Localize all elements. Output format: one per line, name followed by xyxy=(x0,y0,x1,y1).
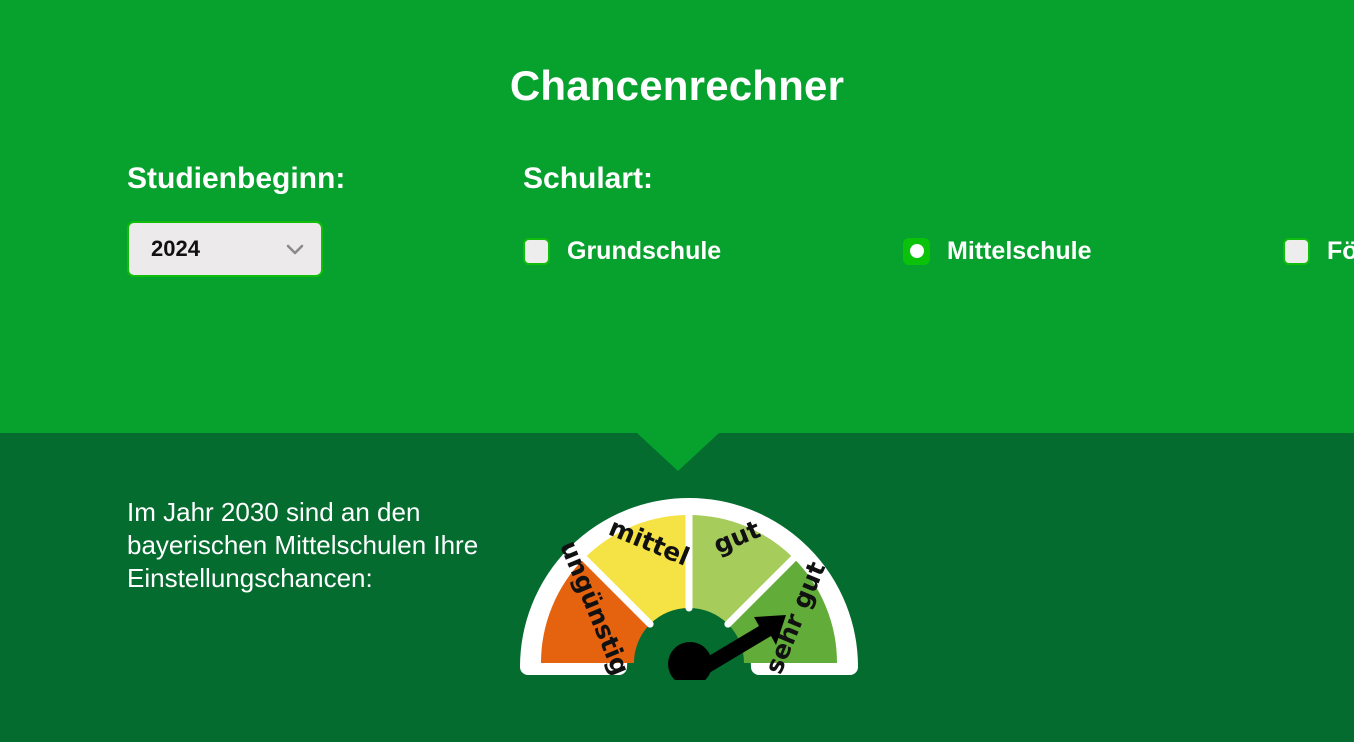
schulart-options-grid: Grundschule Mittelschule Förderschule Re… xyxy=(523,223,1283,279)
checkbox-mittelschule[interactable] xyxy=(903,238,930,265)
studienbeginn-label: Studienbeginn: xyxy=(127,162,345,196)
school-option-label: Mittelschule xyxy=(947,237,1091,266)
result-text: Im Jahr 2030 sind an den bayerischen Mit… xyxy=(127,496,497,595)
gauge-chart: ungünstig mittel gut sehr gut xyxy=(516,484,864,680)
panel-notch-triangle xyxy=(637,433,719,471)
top-panel: Chancenrechner Studienbeginn: 2024 Schul… xyxy=(0,0,1354,433)
checkbox-foerderschule[interactable] xyxy=(1283,238,1310,265)
year-select-wrapper: 2024 xyxy=(127,221,323,277)
year-select-value: 2024 xyxy=(151,236,283,262)
schulart-label: Schulart: xyxy=(523,162,1283,196)
schulart-group: Schulart: Grundschule Mittelschule Förde… xyxy=(523,162,1283,279)
year-select[interactable]: 2024 xyxy=(127,221,323,277)
school-option-label: Grundschule xyxy=(567,237,721,266)
chevron-down-icon xyxy=(283,237,307,261)
school-option-grundschule[interactable]: Grundschule xyxy=(523,223,903,279)
page-title: Chancenrechner xyxy=(0,62,1354,110)
school-option-foerderschule[interactable]: Förderschule xyxy=(1283,223,1354,279)
school-option-label: Förderschule xyxy=(1327,237,1354,266)
checkbox-grundschule[interactable] xyxy=(523,238,550,265)
studienbeginn-group: Studienbeginn: 2024 xyxy=(127,162,345,277)
gauge-needle-hub xyxy=(668,642,712,680)
school-option-mittelschule[interactable]: Mittelschule xyxy=(903,223,1283,279)
